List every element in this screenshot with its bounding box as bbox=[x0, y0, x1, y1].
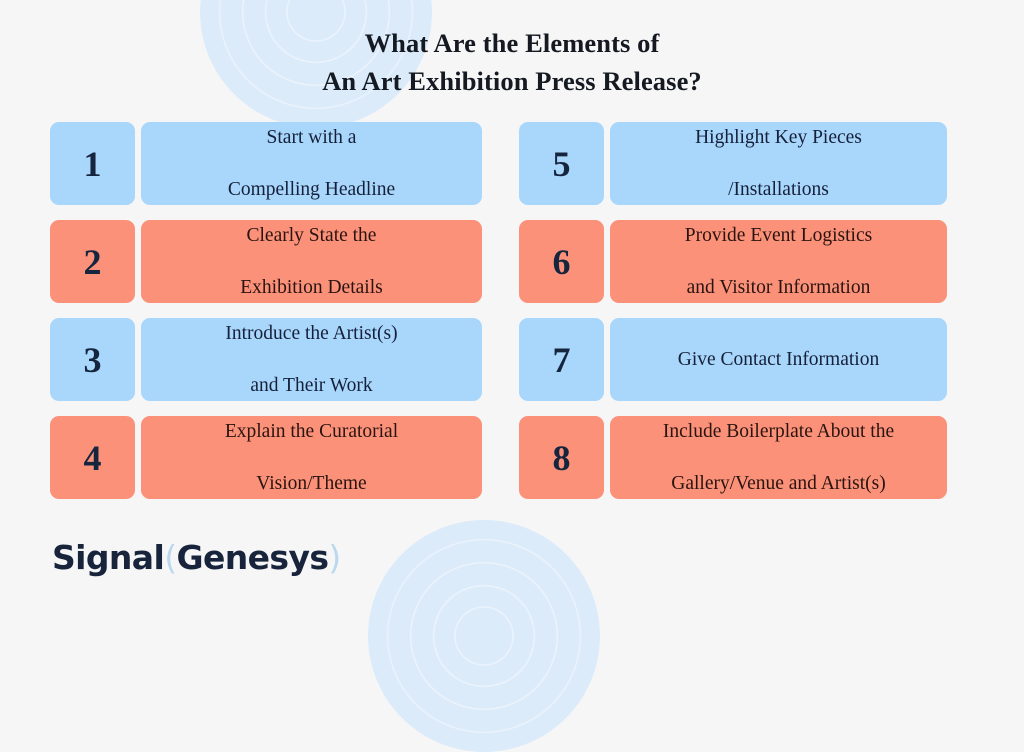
item-label-line-1: Include Boilerplate About the bbox=[663, 419, 894, 445]
list-item[interactable]: 6 Provide Event Logisticsand Visitor Inf… bbox=[519, 220, 947, 303]
item-label-line-2: Exhibition Details bbox=[240, 275, 382, 301]
item-label: Explain the CuratorialVision/Theme bbox=[225, 419, 398, 497]
list-item[interactable]: 1 Start with aCompelling Headline bbox=[50, 122, 482, 205]
item-label: Introduce the Artist(s)and Their Work bbox=[225, 321, 397, 399]
logo-word-genesys: Genesys bbox=[176, 538, 328, 577]
item-text-box: Clearly State theExhibition Details bbox=[141, 220, 482, 303]
item-label-line-2: Vision/Theme bbox=[225, 471, 398, 497]
logo-word-signal: Signal bbox=[52, 538, 164, 577]
list-item[interactable]: 2 Clearly State theExhibition Details bbox=[50, 220, 482, 303]
item-label: Provide Event Logisticsand Visitor Infor… bbox=[685, 223, 872, 301]
item-number-badge: 1 bbox=[50, 122, 135, 205]
logo-close-paren: ) bbox=[328, 538, 340, 577]
page-title-line-1: What Are the Elements of bbox=[0, 24, 1024, 62]
item-label: Give Contact Information bbox=[678, 347, 879, 373]
item-label-line-1: Provide Event Logistics bbox=[685, 223, 872, 249]
item-number-badge: 2 bbox=[50, 220, 135, 303]
item-label-line-1: Start with a bbox=[228, 125, 395, 151]
item-number-badge: 3 bbox=[50, 318, 135, 401]
item-number-badge: 4 bbox=[50, 416, 135, 499]
item-label-line-2: and Visitor Information bbox=[685, 275, 872, 301]
list-item[interactable]: 3 Introduce the Artist(s)and Their Work bbox=[50, 318, 482, 401]
item-label-line-1: Give Contact Information bbox=[678, 347, 879, 373]
item-text-box: Give Contact Information bbox=[610, 318, 947, 401]
list-item[interactable]: 7 Give Contact Information bbox=[519, 318, 947, 401]
item-label: Include Boilerplate About theGallery/Ven… bbox=[663, 419, 894, 497]
item-label-line-2: Gallery/Venue and Artist(s) bbox=[663, 471, 894, 497]
list-item[interactable]: 4 Explain the CuratorialVision/Theme bbox=[50, 416, 482, 499]
item-text-box: Introduce the Artist(s)and Their Work bbox=[141, 318, 482, 401]
logo-open-paren: ( bbox=[164, 538, 176, 577]
item-number-badge: 7 bbox=[519, 318, 604, 401]
watermark-rings-bottom bbox=[368, 520, 600, 752]
item-label-line-2: /Installations bbox=[695, 177, 862, 203]
item-label-line-1: Introduce the Artist(s) bbox=[225, 321, 397, 347]
elements-grid: 1 Start with aCompelling Headline 5 High… bbox=[50, 122, 947, 499]
item-text-box: Provide Event Logisticsand Visitor Infor… bbox=[610, 220, 947, 303]
item-label-line-1: Clearly State the bbox=[240, 223, 382, 249]
list-item[interactable]: 8 Include Boilerplate About theGallery/V… bbox=[519, 416, 947, 499]
item-label: Start with aCompelling Headline bbox=[228, 125, 395, 203]
item-number-badge: 6 bbox=[519, 220, 604, 303]
item-label-line-2: Compelling Headline bbox=[228, 177, 395, 203]
item-label: Clearly State theExhibition Details bbox=[240, 223, 382, 301]
item-label-line-1: Explain the Curatorial bbox=[225, 419, 398, 445]
item-number-badge: 5 bbox=[519, 122, 604, 205]
item-label-line-1: Highlight Key Pieces bbox=[695, 125, 862, 151]
item-text-box: Include Boilerplate About theGallery/Ven… bbox=[610, 416, 947, 499]
brand-logo: Signal(Genesys) bbox=[52, 538, 341, 577]
page-title: What Are the Elements of An Art Exhibiti… bbox=[0, 24, 1024, 100]
item-number-badge: 8 bbox=[519, 416, 604, 499]
item-text-box: Start with aCompelling Headline bbox=[141, 122, 482, 205]
item-text-box: Explain the CuratorialVision/Theme bbox=[141, 416, 482, 499]
watermark-circle-bottom bbox=[368, 520, 600, 752]
item-label: Highlight Key Pieces/Installations bbox=[695, 125, 862, 203]
item-label-line-2: and Their Work bbox=[225, 373, 397, 399]
list-item[interactable]: 5 Highlight Key Pieces/Installations bbox=[519, 122, 947, 205]
item-text-box: Highlight Key Pieces/Installations bbox=[610, 122, 947, 205]
page-title-line-2: An Art Exhibition Press Release? bbox=[0, 62, 1024, 100]
